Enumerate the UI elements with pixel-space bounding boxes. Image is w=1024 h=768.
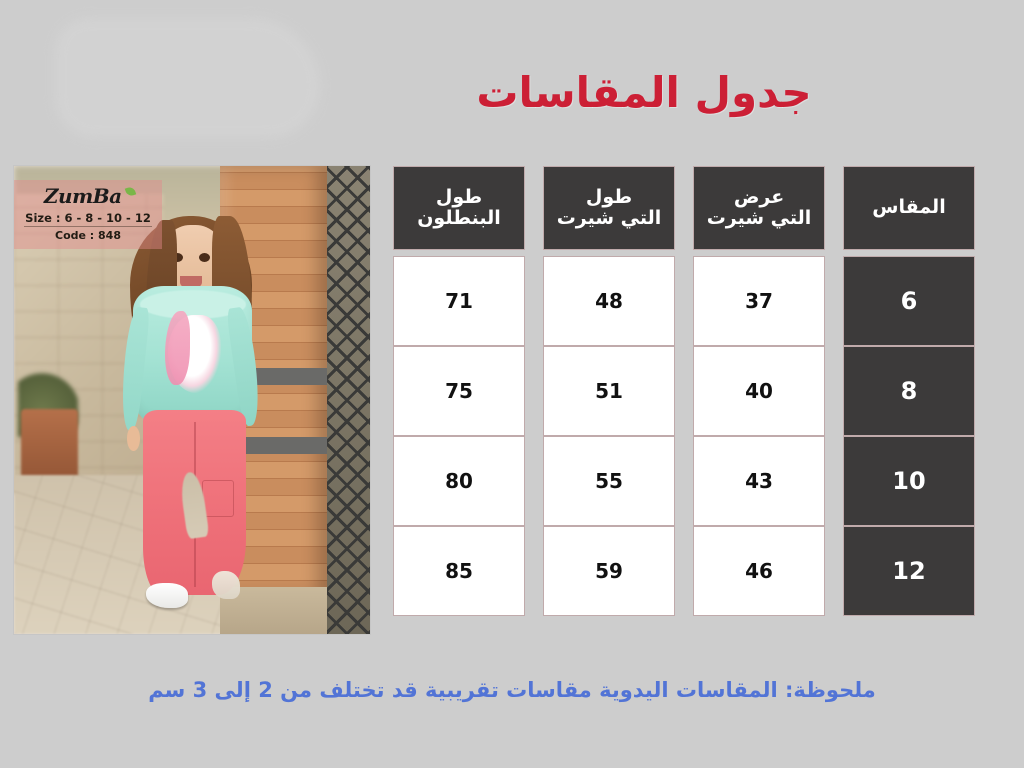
cell-tshirt-width: 37 [693, 256, 825, 346]
cell-tshirt-length: 48 [543, 256, 675, 346]
brand-logo: ZumBa [20, 184, 156, 209]
cell-tshirt-length: 59 [543, 526, 675, 616]
header-label: عرضالتي شيرت [707, 187, 812, 230]
model-shoe-back [212, 571, 240, 600]
table-header-tshirt-length: طولالتي شيرت [543, 166, 675, 250]
photo-iron-gate [324, 166, 370, 634]
model-hand-left [127, 426, 140, 451]
overlay-code: Code : 848 [20, 229, 156, 243]
leaf-icon [125, 186, 137, 198]
cell-size: 10 [843, 436, 975, 526]
cell-tshirt-width: 43 [693, 436, 825, 526]
brand-name: ZumBa [44, 184, 122, 208]
photo-brand-overlay: ZumBa Size : 6 - 8 - 10 - 12 Code : 848 [14, 180, 162, 249]
cell-tshirt-length: 55 [543, 436, 675, 526]
disclaimer-note: ملحوظة: المقاسات اليدوية مقاسات تقريبية … [0, 678, 1024, 702]
product-photo: ZumBa Size : 6 - 8 - 10 - 12 Code : 848 [14, 166, 370, 634]
cell-size: 6 [843, 256, 975, 346]
table-header-pants-length: طولالبنطلون [393, 166, 525, 250]
table-header-tshirt-width: عرضالتي شيرت [693, 166, 825, 250]
model-shoe-front [146, 583, 188, 608]
model-cargo-pocket [202, 480, 233, 517]
size-table: المقاس عرضالتي شيرت طولالتي شيرت طولالبن… [393, 166, 975, 610]
page-title: جدول المقاسات [434, 72, 854, 114]
photo-model-girl [121, 208, 278, 620]
cell-size: 8 [843, 346, 975, 436]
cell-pants-length: 80 [393, 436, 525, 526]
cell-tshirt-width: 46 [693, 526, 825, 616]
cell-pants-length: 75 [393, 346, 525, 436]
header-label: المقاس [872, 197, 945, 218]
overlay-sizes: Size : 6 - 8 - 10 - 12 [24, 211, 152, 227]
header-label: طولالتي شيرت [557, 187, 662, 230]
table-header-size: المقاس [843, 166, 975, 250]
cell-size: 12 [843, 526, 975, 616]
cell-tshirt-width: 40 [693, 346, 825, 436]
cell-tshirt-length: 51 [543, 346, 675, 436]
size-chart-page: جدول المقاسات [0, 0, 1024, 768]
cell-pants-length: 71 [393, 256, 525, 346]
cell-pants-length: 85 [393, 526, 525, 616]
header-label: طولالبنطلون [417, 187, 501, 230]
